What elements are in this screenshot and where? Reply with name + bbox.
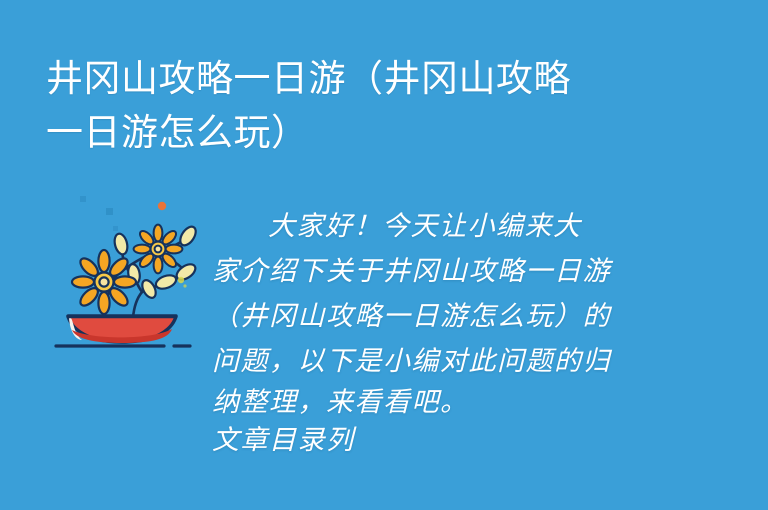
body-line-1: 大家好！今天让小编来大 <box>212 204 644 249</box>
accent-square-3-icon <box>113 226 118 231</box>
sparkle-dot-small-icon <box>183 284 186 287</box>
article-cover-page: 井冈山攻略一日游（井冈山攻略 一日游怎么玩） <box>0 0 768 510</box>
bowl-icon <box>68 316 176 343</box>
title-line-1: 井冈山攻略一日游（井冈山攻略 <box>46 52 666 106</box>
accent-dot-icon <box>158 202 166 210</box>
article-intro-text: 大家好！今天让小编来大 家介绍下关于井冈山攻略一日游 （井冈山攻略一日游怎么玩）… <box>212 204 644 460</box>
title-line-2: 一日游怎么玩） <box>46 106 666 160</box>
body-line-6: 文章目录列 <box>212 422 644 460</box>
potted-flowers-illustration <box>52 190 232 370</box>
accent-square-icon <box>106 208 113 215</box>
body-line-4: 问题，以下是小编对此问题的归 <box>212 339 644 384</box>
body-line-3: （井冈山攻略一日游怎么玩）的 <box>212 294 644 339</box>
accent-square-2-icon <box>80 196 86 202</box>
body-line-5: 纳整理，来看看吧。 <box>212 384 644 422</box>
sparkle-dot-icon <box>178 277 184 283</box>
flower-large-icon <box>72 250 136 314</box>
flower-small-icon <box>134 225 183 274</box>
page-title: 井冈山攻略一日游（井冈山攻略 一日游怎么玩） <box>46 52 666 160</box>
body-line-2: 家介绍下关于井冈山攻略一日游 <box>212 249 644 294</box>
